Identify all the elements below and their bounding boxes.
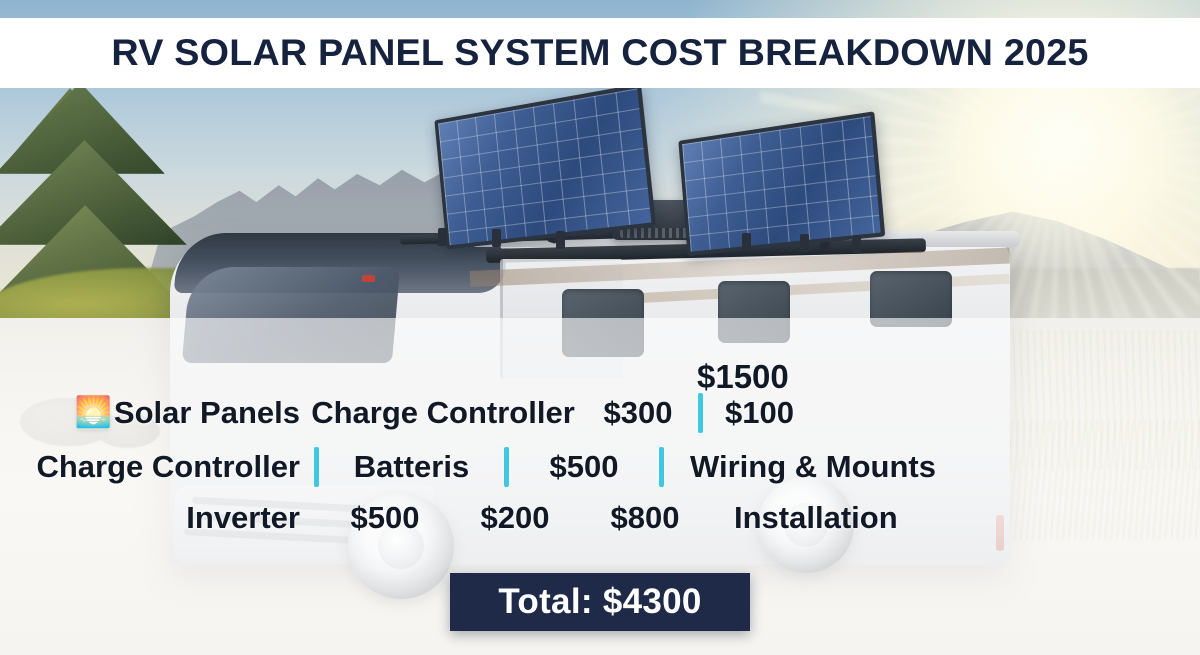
sun-icon: 🌅 bbox=[75, 398, 112, 428]
total-label: Total: $4300 bbox=[498, 582, 701, 622]
row2-right-cell: Wiring & Mounts bbox=[664, 449, 990, 485]
title-band: RV SOLAR PANEL SYSTEM COST BREAKDOWN 202… bbox=[0, 18, 1200, 88]
row1-price-right-cell: $100 bbox=[703, 395, 835, 431]
row1-mid-cell: Charge Controller bbox=[308, 395, 578, 431]
row1-left-cell: 🌅 Solar Panels bbox=[0, 395, 308, 431]
price-solar-panels: $1500 bbox=[697, 358, 789, 396]
breakdown-row-2: Charge Controller Batteris $500 Wiring &… bbox=[0, 447, 1200, 487]
price-row1-mid: $300 bbox=[604, 395, 673, 431]
label-batteries: Batteris bbox=[354, 449, 469, 485]
price-row3-b: $200 bbox=[481, 500, 550, 536]
label-charge-controller-row2: Charge Controller bbox=[36, 449, 300, 485]
price-row3-c: $800 bbox=[611, 500, 680, 536]
label-inverter: Inverter bbox=[186, 500, 300, 536]
cost-breakdown-overlay: $1500 🌅 Solar Panels Charge Controller $… bbox=[0, 340, 1200, 550]
rv-marker-light bbox=[362, 275, 375, 282]
solar-mount-foot-1 bbox=[438, 228, 447, 246]
row3-left-cell: Inverter bbox=[0, 500, 320, 536]
infographic-canvas: RV SOLAR PANEL SYSTEM COST BREAKDOWN 202… bbox=[0, 0, 1200, 655]
row1-price-mid-cell: $300 bbox=[578, 395, 698, 431]
breakdown-row-1: 🌅 Solar Panels Charge Controller $300 $1… bbox=[0, 393, 1200, 433]
rv-window-3 bbox=[870, 271, 952, 327]
label-wiring-mounts: Wiring & Mounts bbox=[690, 449, 936, 485]
rv-window-2 bbox=[718, 281, 790, 343]
label-solar-panels: Solar Panels bbox=[114, 395, 300, 431]
price-row3-a: $500 bbox=[351, 500, 420, 536]
solar-mount-foot-4 bbox=[742, 233, 751, 251]
price-row2-mid: $500 bbox=[550, 449, 619, 485]
solar-mount-foot-2 bbox=[492, 229, 501, 247]
label-installation: Installation bbox=[734, 500, 898, 536]
total-banner: Total: $4300 bbox=[450, 573, 750, 631]
row2-left-cell: Charge Controller bbox=[0, 449, 314, 485]
solar-mount-foot-3 bbox=[556, 231, 565, 249]
row3-price-b-cell: $200 bbox=[450, 500, 580, 536]
breakdown-row-3: Inverter $500 $200 $800 Installation bbox=[0, 500, 1200, 536]
row2-mid-cell: Batteris bbox=[319, 449, 504, 485]
row3-price-c-cell: $800 bbox=[580, 500, 710, 536]
label-charge-controller-row1: Charge Controller bbox=[311, 395, 575, 431]
price-row1-right: $100 bbox=[725, 395, 794, 431]
solar-mount-foot-6 bbox=[852, 235, 861, 253]
row3-price-a-cell: $500 bbox=[320, 500, 450, 536]
row3-right-cell: Installation bbox=[710, 500, 1034, 536]
page-title: RV SOLAR PANEL SYSTEM COST BREAKDOWN 202… bbox=[111, 32, 1088, 74]
background-photo bbox=[0, 0, 1200, 655]
row2-price-cell: $500 bbox=[509, 449, 659, 485]
solar-mount-foot-5 bbox=[800, 234, 809, 252]
